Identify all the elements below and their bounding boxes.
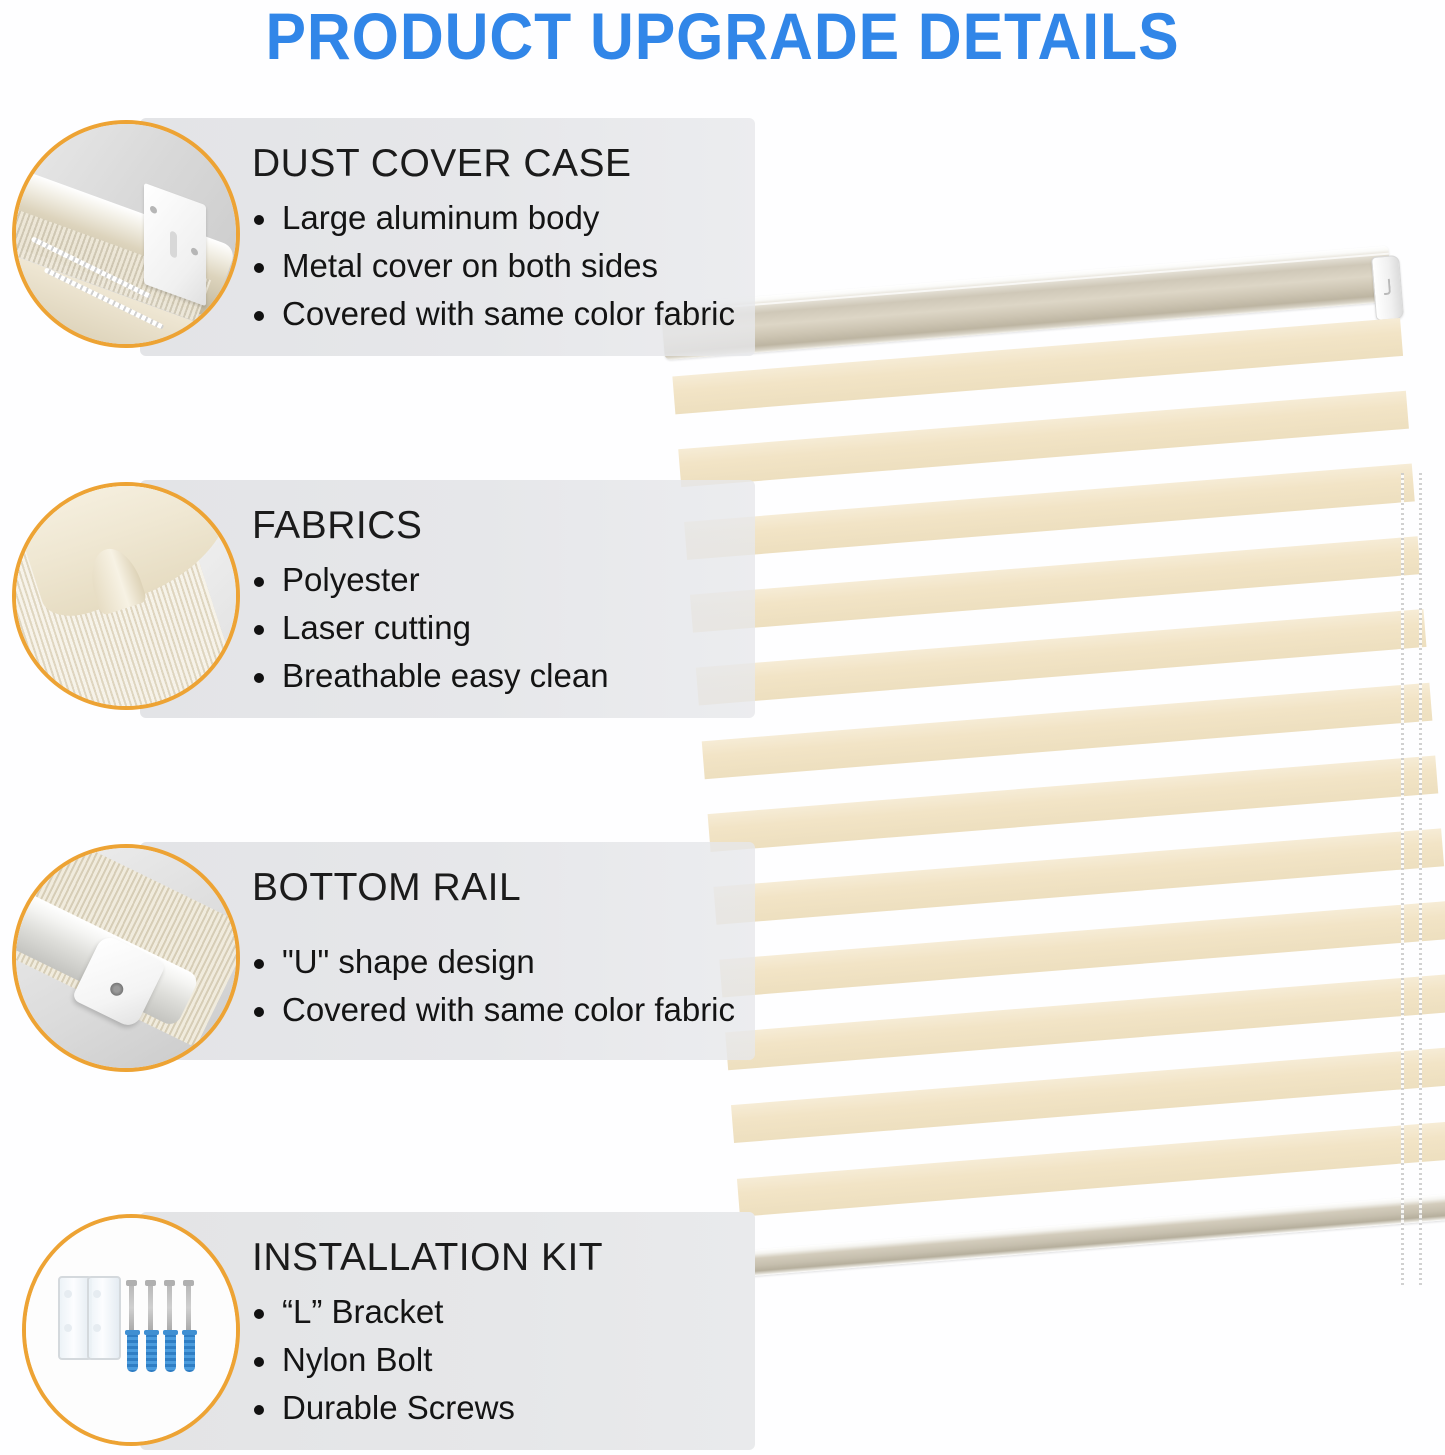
- screw-icon: [167, 1285, 172, 1331]
- medallion-image: [16, 124, 236, 344]
- bullet-item: Laser cutting: [252, 604, 729, 652]
- zebra-striped-fabric: [672, 309, 1445, 1243]
- medallion-image: [16, 486, 236, 706]
- bullet-item: Covered with same color fabric: [252, 986, 729, 1034]
- fabric-swatch-photo: [12, 482, 240, 710]
- screw-icon: [129, 1285, 134, 1331]
- product-image-zebra-blind: [660, 215, 1445, 1285]
- bead-chain: [1399, 473, 1429, 1285]
- feature-bullet-list: Polyester Laser cutting Breathable easy …: [252, 556, 729, 700]
- screw-icon: [148, 1285, 153, 1331]
- bullet-item: Large aluminum body: [252, 194, 729, 242]
- feature-heading: BOTTOM RAIL: [252, 864, 729, 912]
- bullet-item: “L” Bracket: [252, 1288, 729, 1336]
- chain-slot-icon: [169, 231, 176, 260]
- feature-heading: INSTALLATION KIT: [252, 1234, 729, 1282]
- feature-heading: DUST COVER CASE: [252, 140, 729, 188]
- nylon-bolt-icon: [165, 1334, 176, 1372]
- bullet-item: Metal cover on both sides: [252, 242, 729, 290]
- feature-heading: FABRICS: [252, 502, 729, 550]
- medallion-image: [26, 1218, 236, 1442]
- bullet-item: Polyester: [252, 556, 729, 604]
- bottom-rail-photo: [12, 844, 240, 1072]
- screw-icon: [186, 1285, 191, 1331]
- bullet-item: Covered with same color fabric: [252, 290, 729, 338]
- l-bracket-icon: [87, 1276, 121, 1360]
- feature-bullet-list: Large aluminum body Metal cover on both …: [252, 194, 729, 338]
- bullet-item: Durable Screws: [252, 1384, 729, 1432]
- medallion-image: [16, 848, 236, 1068]
- blind-assembly: [660, 227, 1445, 1283]
- bead-chain-left-strand: [1401, 473, 1404, 1285]
- nylon-bolt-icon: [127, 1334, 138, 1372]
- bullet-item: Breathable easy clean: [252, 652, 729, 700]
- nylon-bolt-icon: [184, 1334, 195, 1372]
- page-title: PRODUCT UPGRADE DETAILS: [58, 0, 1387, 72]
- feature-bullet-list: "U" shape design Covered with same color…: [252, 938, 729, 1034]
- feature-bullet-list: “L” Bracket Nylon Bolt Durable Screws: [252, 1288, 729, 1432]
- nylon-bolt-icon: [146, 1334, 157, 1372]
- screw-icon: [108, 980, 125, 997]
- screw-icon: [150, 206, 157, 216]
- chain-hook-icon: [1383, 279, 1391, 296]
- bullet-item: Nylon Bolt: [252, 1336, 729, 1384]
- dust-cover-case-photo: [12, 120, 240, 348]
- installation-hardware-photo: [22, 1214, 240, 1446]
- bead-chain-right-strand: [1419, 473, 1422, 1285]
- bullet-item: "U" shape design: [252, 938, 729, 986]
- screw-icon: [191, 247, 198, 257]
